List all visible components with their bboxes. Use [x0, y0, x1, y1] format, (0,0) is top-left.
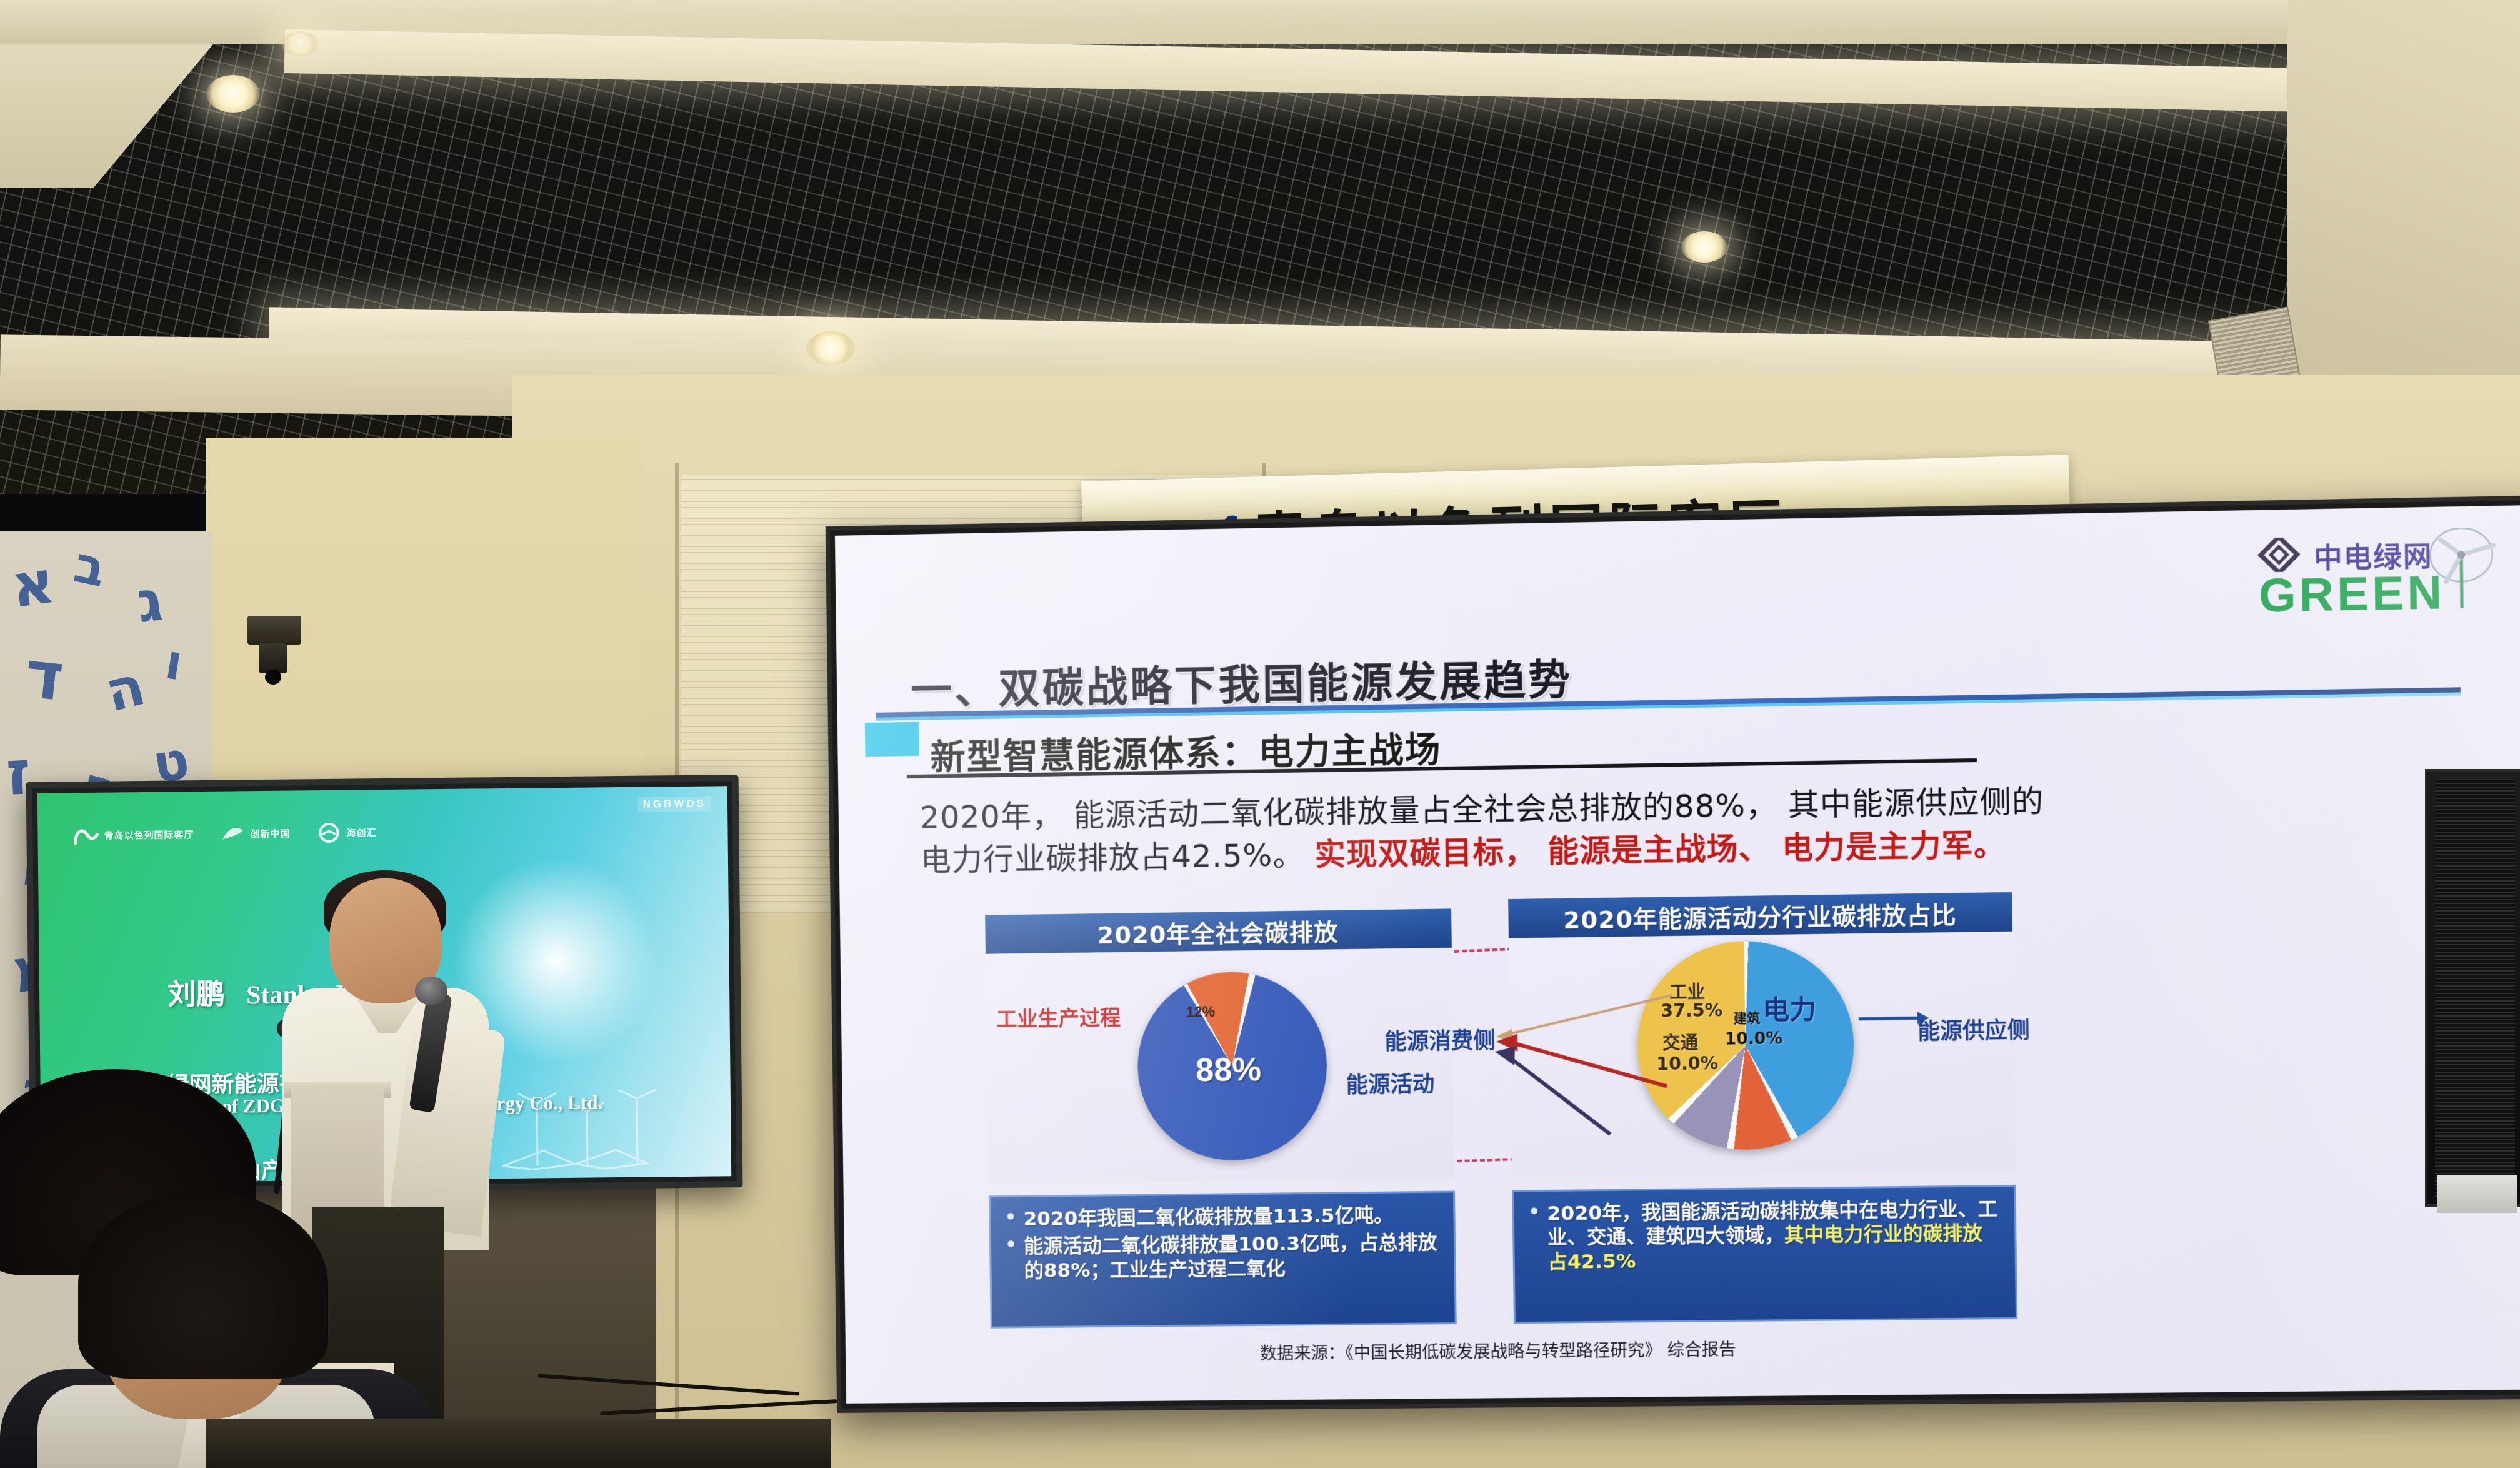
tv-watermark: NGBWDS [637, 797, 711, 812]
list-item: 2020年我国二氧化碳排放量113.5亿吨。 [1002, 1203, 1439, 1232]
speaker-base-plate [2437, 1175, 2517, 1213]
pie-label-industry: 工业生产过程 [996, 1001, 1121, 1033]
chart-header-left: 2020年全社会碳排放 [985, 908, 1452, 953]
label-energy-supply-side: 能源供应侧 [1917, 1012, 2030, 1046]
chart-header-right-label: 2020年能源活动分行业碳排放占比 [1563, 895, 1957, 935]
pie-label-power: 电力 [1762, 988, 1817, 1028]
zdg-diamond-mark [2252, 537, 2306, 572]
list-item: 2020年，我国能源活动碳排放集中在电力行业、工业、交通、建筑四大领域，其中电力… [1526, 1197, 2001, 1275]
zdg-green-logo: 中电绿网 GREEN [2237, 531, 2497, 625]
qingdao-israel-hall-logo: 青岛以色列国际客厅 [74, 822, 194, 848]
wall-mounted-camera [237, 616, 312, 685]
chart-header-right: 2020年能源活动分行业碳排放占比 [1508, 892, 2012, 938]
pie-label-energy: 能源活动 [1346, 1067, 1434, 1100]
presentation-slide: 中电绿网 GREEN 一、双碳战略下我国能源发展趋势 新型智慧能源体系：电力主战… [835, 505, 2520, 1404]
zdg-logo-en: GREEN [2259, 565, 2446, 623]
body-line-2-emphasis: 实现双碳目标， 能源是主战场、 电力是主力军。 [1314, 827, 2006, 872]
callout-box-right: 2020年，我国能源活动碳排放集中在电力行业、工业、交通、建筑四大领域，其中电力… [1512, 1185, 2017, 1324]
audience-member-2-hair [78, 1191, 328, 1379]
tv-logo-label: 青岛以色列国际客厅 [104, 828, 194, 842]
innovation-china-logo: 创新中国 [220, 821, 290, 847]
pie-label-building: 建筑 [1734, 1008, 1761, 1027]
tv-logo-label: 创新中国 [250, 827, 290, 840]
downlight-3 [1681, 231, 1727, 263]
label-energy-consumption-side: 能源消费侧 [1384, 1023, 1496, 1057]
tv-sponsor-logos: 青岛以色列国际客厅 创新中国 海创汇 [74, 820, 376, 848]
ceiling-soffit-right [2287, 0, 2520, 400]
handheld-microphone-head [415, 977, 447, 1005]
wind-turbine-icon [2421, 528, 2499, 612]
subtitle-accent-tab [865, 722, 919, 757]
slide-body-text: 2020年， 能源活动二氧化碳排放量占全社会总排放的88%， 其中能源供应侧的 … [919, 774, 2461, 882]
downlight-1 [206, 75, 260, 113]
speaker-name-cn: 刘鹏 [167, 977, 226, 1012]
source-note: 数据来源：《中国长期低碳发展战略与转型路径研究》 综合报告 [1260, 1335, 1736, 1364]
downlight-2 [806, 331, 855, 365]
arrow-consumption-side [1481, 992, 1674, 1139]
tv-logo-label: 海创汇 [346, 826, 376, 840]
floor-strip [206, 1419, 831, 1468]
conference-room-photo: א ב ג ד ה ו ז ח ט י כ ל מ נ ס ע פ צ ק ר … [0, 0, 2520, 1468]
body-line-2-plain: 电力行业碳排放占42.5%。 [920, 837, 1315, 878]
chart-header-left-label: 2020年全社会碳排放 [1097, 912, 1339, 950]
pie-label-building-pct: 10.0% [1725, 1029, 1782, 1048]
speaker-grille [2435, 779, 2515, 1197]
haichuanghui-logo: 海创汇 [316, 820, 376, 845]
wall-speaker-cabinet [2425, 769, 2520, 1207]
callout-box-left: 2020年我国二氧化碳排放量113.5亿吨。 能源活动二氧化碳排放量100.3亿… [989, 1191, 1457, 1329]
pie-label-energy-pct: 88% [1196, 1051, 1262, 1090]
projection-screen[interactable]: 中电绿网 GREEN 一、双碳战略下我国能源发展趋势 新型智慧能源体系：电力主战… [826, 495, 2520, 1413]
list-item: 能源活动二氧化碳排放量100.3亿吨，占总排放的88%；工业生产过程二氧化 [1002, 1231, 1441, 1284]
chart-card-sector-share: 2020年能源活动分行业碳排放占比 电力 工业 37.5% 交通 10.0% 建… [1508, 892, 2016, 1176]
downlight-7 [281, 31, 319, 56]
pie-label-industry-pct: 12% [1186, 1003, 1216, 1021]
